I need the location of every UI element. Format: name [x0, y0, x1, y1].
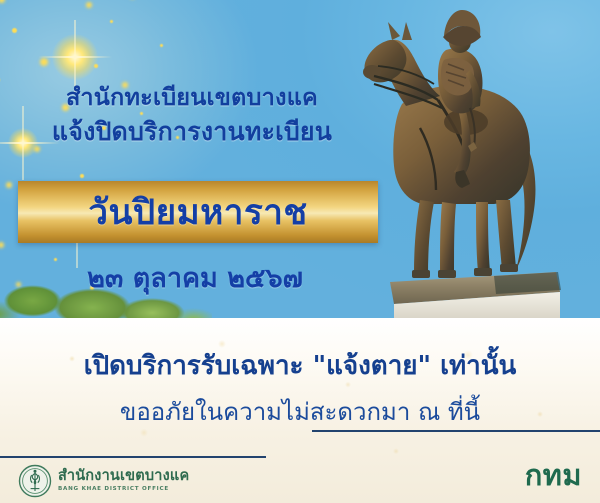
event-date: ๒๓ ตุลาคม ๒๕๖๗ [0, 256, 390, 299]
page-title: สำนักทะเบียนเขตบางแค แจ้งปิดบริการงานทะเ… [0, 84, 384, 146]
gold-banner-label: วันปิยมหาราช [88, 185, 307, 240]
headline-line-1: สำนักทะเบียนเขตบางแค [66, 83, 318, 111]
footer-org-name-en: BANG KHAE DISTRICT OFFICE [58, 487, 189, 493]
gold-banner: วันปิยมหาราช [18, 181, 378, 243]
announcement-poster: สำนักทะเบียนเขตบางแค แจ้งปิดบริการงานทะเ… [0, 0, 600, 503]
city-mark: กทม [525, 452, 582, 498]
notice-line-1: เปิดบริการรับเฉพาะ "แจ้งตาย" เท่านั้น [0, 345, 600, 386]
divider-left [0, 456, 266, 458]
footer-org-name-th: สำนักงานเขตบางแค [58, 469, 189, 484]
district-seal-icon [18, 464, 52, 498]
footer-logo-text: สำนักงานเขตบางแค BANG KHAE DISTRICT OFFI… [58, 469, 189, 492]
divider-right [312, 430, 600, 432]
headline-line-2: แจ้งปิดบริการงานทะเบียน [0, 117, 384, 147]
notice-line-2: ขออภัยในความไม่สะดวกมา ณ ที่นี้ [0, 392, 600, 431]
footer-logo: สำนักงานเขตบางแค BANG KHAE DISTRICT OFFI… [18, 464, 189, 498]
